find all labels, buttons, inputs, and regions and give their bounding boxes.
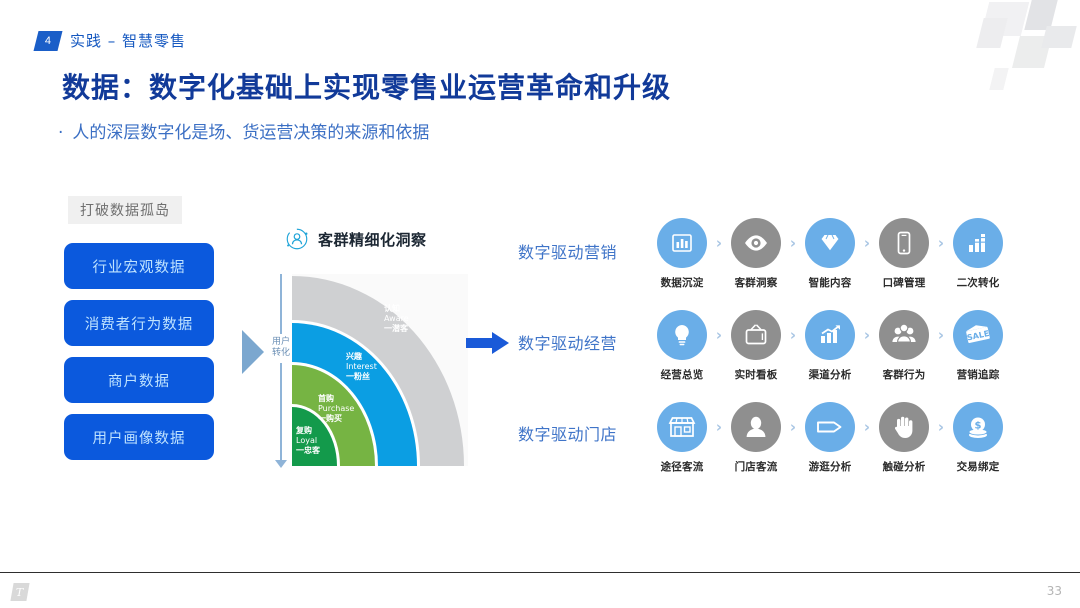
lightbulb-icon xyxy=(669,322,695,348)
icon-cell[interactable]: 智能内容 xyxy=(804,218,856,290)
data-source-box[interactable]: 用户画像数据 xyxy=(64,414,214,460)
icon-caption: 门店客流 xyxy=(730,459,782,474)
break-data-island-label: 打破数据孤岛 xyxy=(68,196,182,224)
footer-divider xyxy=(0,572,1080,573)
people-group-icon xyxy=(889,320,919,350)
slide-kicker: 4 实践 – 智慧零售 xyxy=(36,30,186,51)
icon-caption: 交易绑定 xyxy=(952,459,1004,474)
bar-chart-icon xyxy=(669,230,695,256)
axis-label: 用户转化 xyxy=(268,334,294,363)
subtitle-text: 人的深层数字化是场、货运营决策的来源和依据 xyxy=(72,118,429,143)
driver-label-marketing: 数字驱动营销 xyxy=(518,239,617,263)
icon-caption: 实时看板 xyxy=(730,367,782,382)
page-number: 33 xyxy=(1047,584,1062,598)
hand-icon xyxy=(891,413,917,441)
phone-icon xyxy=(890,229,918,257)
tv-icon xyxy=(742,321,770,349)
icon-cell[interactable]: 游逛分析 xyxy=(804,402,856,474)
icon-badge: $ xyxy=(953,402,1003,452)
funnel-stage-label: 复购 Loyal 一忠客 xyxy=(296,426,320,455)
svg-text:$: $ xyxy=(975,420,982,431)
axis-arrow-icon xyxy=(275,460,287,468)
icon-row-marketing: 数据沉淀 › 客群洞察 › 智能内容 xyxy=(656,218,1004,290)
icon-caption: 口碑管理 xyxy=(878,275,930,290)
chevron-right-icon: › xyxy=(782,402,804,452)
driver-label-operations: 数字驱动经营 xyxy=(518,330,617,354)
icon-cell[interactable]: 客群行为 xyxy=(878,310,930,382)
icon-badge: SALE xyxy=(953,310,1003,360)
stage-cn: 复购 xyxy=(296,426,320,436)
chevron-right-icon: › xyxy=(708,218,730,268)
icon-badge xyxy=(879,402,929,452)
coins-icon: $ xyxy=(964,413,992,441)
stage-cn: 首购 xyxy=(318,394,354,404)
funnel-stage-label: 兴趣 Interest 一粉丝 xyxy=(346,352,377,381)
stage-en: Aware xyxy=(384,314,409,324)
stage-en: Interest xyxy=(346,362,377,372)
funnel-stage-label: 首购 Purchase 一购买 xyxy=(318,394,354,423)
flow-triangle-arrow-icon xyxy=(242,330,264,374)
icon-cell[interactable]: 经营总览 xyxy=(656,310,708,382)
chevron-right-icon: › xyxy=(782,218,804,268)
funnel-title: 客群精细化洞察 xyxy=(318,229,427,250)
icon-badge xyxy=(657,218,707,268)
icon-cell[interactable]: 途径客流 xyxy=(656,402,708,474)
footer-logo: T xyxy=(10,583,29,601)
chevron-right-icon: › xyxy=(708,310,730,360)
data-source-box[interactable]: 消费者行为数据 xyxy=(64,300,214,346)
icon-cell[interactable]: 口碑管理 xyxy=(878,218,930,290)
eye-icon xyxy=(742,229,770,257)
footer-logo-glyph: T xyxy=(16,586,23,599)
chevron-right-icon: › xyxy=(708,402,730,452)
conversion-axis: 用户转化 xyxy=(268,274,294,466)
icon-caption: 营销追踪 xyxy=(952,367,1004,382)
icon-badge xyxy=(731,402,781,452)
bar-levels-icon xyxy=(965,230,991,256)
icon-cell[interactable]: 门店客流 xyxy=(730,402,782,474)
icon-cell[interactable]: 触碰分析 xyxy=(878,402,930,474)
stage-cn2: 一粉丝 xyxy=(346,372,377,382)
icon-caption: 二次转化 xyxy=(952,275,1004,290)
icon-cell[interactable]: 实时看板 xyxy=(730,310,782,382)
icon-caption: 智能内容 xyxy=(804,275,856,290)
capability-icon-grid: 数据沉淀 › 客群洞察 › 智能内容 xyxy=(656,218,1004,494)
section-number: 4 xyxy=(45,35,51,46)
icon-cell[interactable]: 渠道分析 xyxy=(804,310,856,382)
chevron-right-icon: › xyxy=(856,218,878,268)
bullet-icon: · xyxy=(58,125,63,142)
customer-insight-funnel: 客群精细化洞察 用户转化 认知 Aware 一潜客 兴趣 Interest 一粉… xyxy=(284,226,484,466)
decorative-parallelograms xyxy=(960,0,1080,90)
axis-line xyxy=(280,274,282,466)
data-source-box[interactable]: 商户数据 xyxy=(64,357,214,403)
data-source-list: 行业宏观数据 消费者行为数据 商户数据 用户画像数据 xyxy=(64,243,214,471)
icon-cell[interactable]: 二次转化 xyxy=(952,218,1004,290)
icon-badge xyxy=(953,218,1003,268)
icon-row-store: 途径客流 › 门店客流 › 游逛分析 › xyxy=(656,402,1004,474)
icon-caption: 触碰分析 xyxy=(878,459,930,474)
price-tag-icon xyxy=(814,415,846,439)
stage-cn: 认知 xyxy=(384,304,409,314)
chevron-right-icon: › xyxy=(856,310,878,360)
icon-badge xyxy=(731,218,781,268)
icon-badge xyxy=(657,310,707,360)
stage-cn: 兴趣 xyxy=(346,352,377,362)
icon-badge xyxy=(805,402,855,452)
funnel-header: 客群精细化洞察 xyxy=(284,226,484,252)
icon-badge xyxy=(805,310,855,360)
stage-en: Purchase xyxy=(318,404,354,414)
icon-caption: 渠道分析 xyxy=(804,367,856,382)
icon-caption: 客群洞察 xyxy=(730,275,782,290)
stage-cn2: 一忠客 xyxy=(296,446,320,456)
icon-caption: 游逛分析 xyxy=(804,459,856,474)
icon-badge xyxy=(731,310,781,360)
icon-badge xyxy=(879,310,929,360)
diamond-icon xyxy=(816,229,844,257)
icon-row-operations: 经营总览 › 实时看板 › xyxy=(656,310,1004,382)
stage-cn2: 一潜客 xyxy=(384,324,409,334)
chevron-right-icon: › xyxy=(930,402,952,452)
icon-cell[interactable]: 数据沉淀 xyxy=(656,218,708,290)
stage-en: Loyal xyxy=(296,436,320,446)
funnel-body: 用户转化 认知 Aware 一潜客 兴趣 Interest 一粉丝 首购 Pur… xyxy=(268,274,468,466)
section-title: 实践 – 智慧零售 xyxy=(70,30,186,51)
icon-caption: 经营总览 xyxy=(656,367,708,382)
chevron-right-icon: › xyxy=(930,218,952,268)
driver-label-store: 数字驱动门店 xyxy=(518,421,617,445)
icon-cell[interactable]: SALE 营销追踪 xyxy=(952,310,1004,382)
icon-caption: 数据沉淀 xyxy=(656,275,708,290)
sale-tag-icon: SALE xyxy=(963,322,993,348)
icon-caption: 客群行为 xyxy=(878,367,930,382)
funnel-stage-label: 认知 Aware 一潜客 xyxy=(384,304,409,333)
page-title: 数据：数字化基础上实现零售业运营革命和升级 xyxy=(62,66,671,106)
icon-cell[interactable]: 客群洞察 xyxy=(730,218,782,290)
storefront-icon xyxy=(667,413,697,441)
growth-chart-icon xyxy=(816,321,844,349)
icon-badge xyxy=(879,218,929,268)
data-source-box[interactable]: 行业宏观数据 xyxy=(64,243,214,289)
slide-subtitle: · 人的深层数字化是场、货运营决策的来源和依据 xyxy=(58,118,429,143)
icon-cell[interactable]: $ 交易绑定 xyxy=(952,402,1004,474)
icon-badge xyxy=(805,218,855,268)
person-orbit-icon xyxy=(284,226,310,252)
section-number-badge: 4 xyxy=(34,31,63,51)
person-icon xyxy=(742,413,770,441)
icon-badge xyxy=(657,402,707,452)
flow-right-arrow-icon xyxy=(466,330,510,356)
stage-cn2: 一购买 xyxy=(318,414,354,424)
chevron-right-icon: › xyxy=(782,310,804,360)
funnel-arcs: 认知 Aware 一潜客 兴趣 Interest 一粉丝 首购 Purchase… xyxy=(292,274,468,466)
chevron-right-icon: › xyxy=(856,402,878,452)
chevron-right-icon: › xyxy=(930,310,952,360)
icon-caption: 途径客流 xyxy=(656,459,708,474)
